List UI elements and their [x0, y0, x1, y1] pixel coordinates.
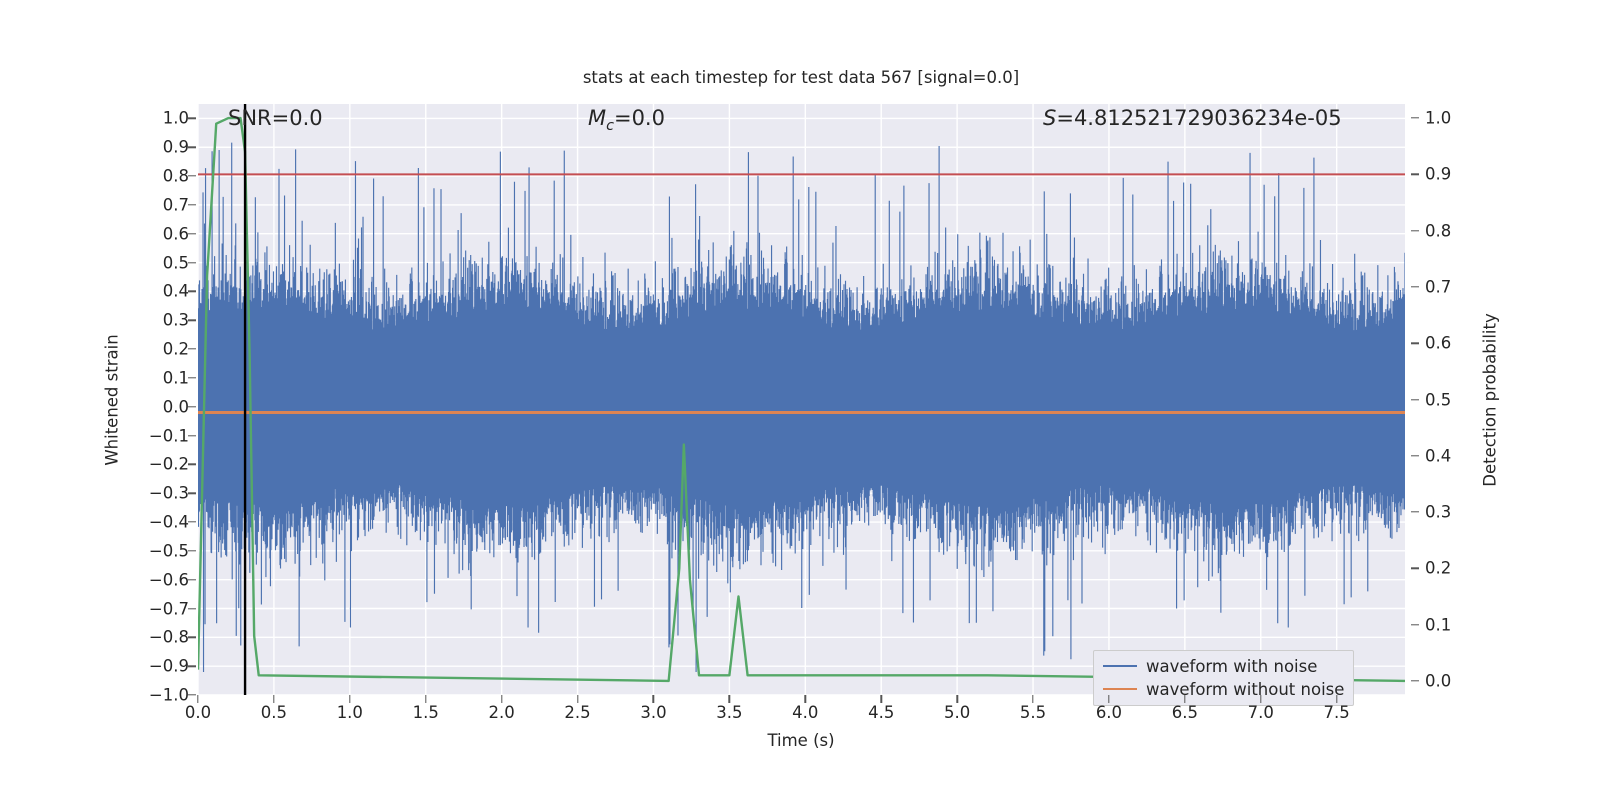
x-tick-mark: [805, 695, 806, 703]
y-tick-mark-left: [188, 175, 196, 176]
y-tick-mark-right: [1411, 286, 1419, 287]
y-tick-mark-right: [1411, 680, 1419, 681]
y-tick-label-left: −0.8: [149, 628, 189, 647]
data-series-layer: [198, 104, 1405, 695]
x-tick-mark: [501, 695, 502, 703]
legend-item[interactable]: waveform without noise: [1103, 679, 1344, 699]
y-tick-label-left: −0.1: [149, 426, 189, 445]
annotation-s-value: =4.812521729036234e-05: [1056, 106, 1341, 130]
y-tick-mark-left: [188, 147, 196, 148]
y-tick-label-left: 0.8: [163, 167, 189, 186]
annotation-mc-value: =0.0: [614, 106, 665, 130]
y-tick-mark-left: [188, 377, 196, 378]
y-tick-label-left: −0.2: [149, 455, 189, 474]
x-tick-mark: [729, 695, 730, 703]
x-tick-mark: [197, 695, 198, 703]
y-tick-mark-left: [188, 348, 196, 349]
x-tick-label: 0.5: [261, 703, 287, 722]
legend: waveform with noisewaveform without nois…: [1093, 650, 1354, 706]
legend-item[interactable]: waveform with noise: [1103, 656, 1344, 676]
y-tick-mark-right: [1411, 174, 1419, 175]
y-tick-mark-left: [188, 233, 196, 234]
y-tick-mark-right: [1411, 511, 1419, 512]
y-tick-mark-left: [188, 694, 196, 695]
x-axis-label: Time (s): [767, 731, 834, 750]
y-tick-label-left: −0.7: [149, 599, 189, 618]
y-tick-mark-left: [188, 665, 196, 666]
x-tick-mark: [881, 695, 882, 703]
x-tick-label: 7.5: [1324, 703, 1350, 722]
x-tick-label: 7.0: [1248, 703, 1274, 722]
y-tick-mark-left: [188, 464, 196, 465]
y-tick-label-left: 0.2: [163, 340, 189, 359]
y-tick-mark-right: [1411, 117, 1419, 118]
annotation-snr: SNR=0.0: [228, 106, 323, 130]
y-tick-label-right: 0.1: [1425, 615, 1451, 634]
y-tick-label-left: 0.6: [163, 224, 189, 243]
y-tick-label-left: −0.6: [149, 570, 189, 589]
x-tick-label: 5.0: [944, 703, 970, 722]
y-tick-label-right: 0.3: [1425, 503, 1451, 522]
y-tick-label-left: 0.9: [163, 138, 189, 157]
x-tick-mark: [956, 695, 957, 703]
y-tick-mark-left: [188, 406, 196, 407]
y-tick-mark-left: [188, 492, 196, 493]
y-tick-mark-left: [188, 608, 196, 609]
x-tick-mark: [1260, 695, 1261, 703]
y-tick-label-left: −1.0: [149, 686, 189, 705]
x-tick-label: 4.5: [868, 703, 894, 722]
x-tick-label: 6.5: [1172, 703, 1198, 722]
x-tick-mark: [1184, 695, 1185, 703]
y-axis-label-right: Detection probability: [1481, 313, 1500, 486]
x-tick-mark: [1032, 695, 1033, 703]
x-tick-mark: [653, 695, 654, 703]
chart-title: stats at each timestep for test data 567…: [583, 68, 1019, 87]
annotation-s-symbol: S: [1043, 106, 1056, 130]
y-tick-label-left: −0.9: [149, 657, 189, 676]
series-waveform-with-noise: [198, 143, 1405, 672]
y-tick-label-left: 0.5: [163, 253, 189, 272]
y-tick-mark-left: [188, 435, 196, 436]
y-tick-mark-left: [188, 204, 196, 205]
x-tick-label: 5.5: [1020, 703, 1046, 722]
y-tick-mark-left: [188, 521, 196, 522]
x-tick-label: 3.5: [716, 703, 742, 722]
x-tick-mark: [1336, 695, 1337, 703]
y-tick-mark-right: [1411, 568, 1419, 569]
y-tick-mark-right: [1411, 455, 1419, 456]
y-tick-label-left: −0.4: [149, 513, 189, 532]
x-tick-label: 1.5: [413, 703, 439, 722]
legend-color-swatch: [1103, 665, 1137, 668]
y-tick-label-right: 0.2: [1425, 559, 1451, 578]
y-tick-mark-left: [188, 320, 196, 321]
x-tick-label: 2.5: [564, 703, 590, 722]
x-tick-mark: [1108, 695, 1109, 703]
y-tick-label-left: 0.4: [163, 282, 189, 301]
y-axis-label-left: Whitened strain: [103, 334, 122, 465]
x-tick-mark: [273, 695, 274, 703]
x-tick-label: 3.0: [640, 703, 666, 722]
y-tick-label-left: −0.5: [149, 541, 189, 560]
annotation-statistic: S=4.812521729036234e-05: [1043, 106, 1342, 130]
y-tick-mark-left: [188, 118, 196, 119]
y-tick-label-right: 0.7: [1425, 277, 1451, 296]
y-tick-label-right: 0.8: [1425, 221, 1451, 240]
x-tick-label: 4.0: [792, 703, 818, 722]
y-tick-label-right: 1.0: [1425, 109, 1451, 128]
y-tick-label-left: 0.0: [163, 397, 189, 416]
x-tick-mark: [425, 695, 426, 703]
annotation-chirp-mass: Mc=0.0: [588, 106, 665, 134]
y-tick-mark-left: [188, 291, 196, 292]
matplotlib-figure: stats at each timestep for test data 567…: [0, 0, 1600, 800]
y-tick-label-left: −0.3: [149, 484, 189, 503]
legend-item-label: waveform without noise: [1146, 680, 1344, 699]
annotation-mc-subscript: c: [606, 118, 614, 134]
y-tick-mark-right: [1411, 624, 1419, 625]
y-tick-label-left: 1.0: [163, 109, 189, 128]
y-tick-label-right: 0.6: [1425, 334, 1451, 353]
y-tick-mark-left: [188, 637, 196, 638]
annotation-mc-symbol: M: [588, 106, 606, 130]
y-tick-mark-right: [1411, 230, 1419, 231]
x-tick-label: 1.0: [337, 703, 363, 722]
y-tick-mark-left: [188, 550, 196, 551]
x-tick-label: 0.0: [185, 703, 211, 722]
y-tick-label-right: 0.4: [1425, 446, 1451, 465]
legend-color-swatch: [1103, 688, 1137, 691]
x-tick-label: 6.0: [1096, 703, 1122, 722]
plot-area: SNR=0.0 Mc=0.0 S=4.812521729036234e-05 w…: [198, 104, 1405, 695]
x-tick-mark: [349, 695, 350, 703]
y-tick-label-left: 0.1: [163, 368, 189, 387]
y-tick-mark-left: [188, 262, 196, 263]
legend-item-label: waveform with noise: [1146, 657, 1317, 676]
y-tick-label-right: 0.0: [1425, 671, 1451, 690]
y-tick-label-left: 0.7: [163, 195, 189, 214]
y-tick-mark-right: [1411, 399, 1419, 400]
x-tick-mark: [577, 695, 578, 703]
y-tick-label-left: 0.3: [163, 311, 189, 330]
y-tick-label-right: 0.5: [1425, 390, 1451, 409]
y-tick-label-right: 0.9: [1425, 165, 1451, 184]
y-tick-mark-left: [188, 579, 196, 580]
y-tick-mark-right: [1411, 343, 1419, 344]
x-tick-label: 2.0: [489, 703, 515, 722]
